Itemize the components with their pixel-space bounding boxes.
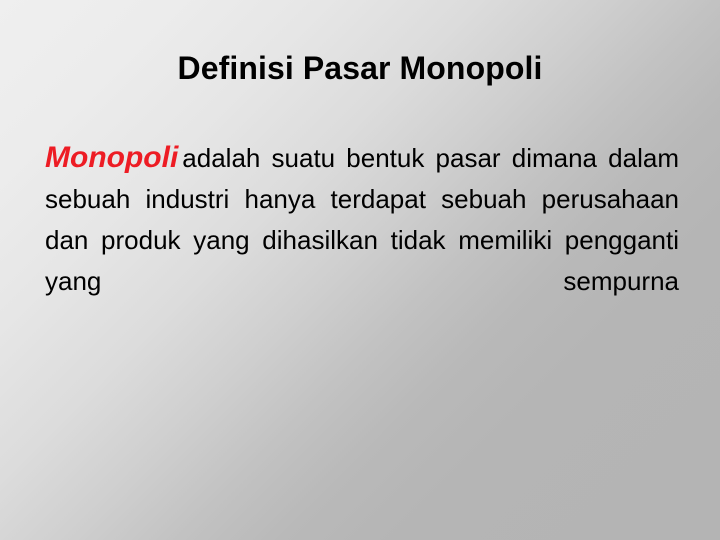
slide-body-block: Monopoliadalah suatu bentuk pasar dimana… xyxy=(45,137,679,343)
slide-body-paragraph: Monopoliadalah suatu bentuk pasar dimana… xyxy=(45,137,679,343)
slide-title: Definisi Pasar Monopoli xyxy=(0,48,720,88)
lead-word-monopoli: Monopoli xyxy=(45,141,178,174)
presentation-slide: Definisi Pasar Monopoli Monopoliadalah s… xyxy=(0,0,720,540)
